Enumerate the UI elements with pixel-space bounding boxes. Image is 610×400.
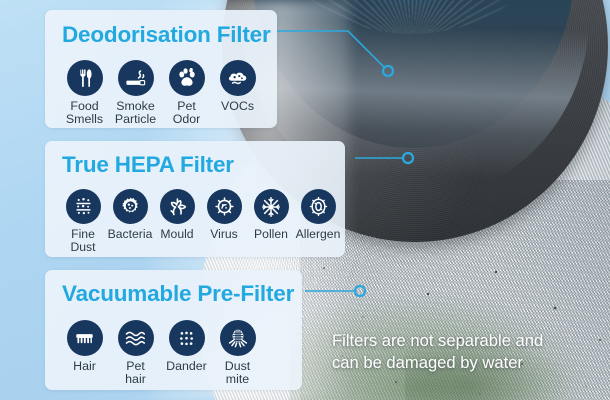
dander-dots-icon bbox=[169, 320, 205, 356]
item-label: Food Smells bbox=[66, 100, 103, 127]
item-bacteria[interactable]: Bacteria bbox=[107, 189, 153, 241]
panel-deodorisation-filter: Deodorisation Filter Food Smells bbox=[45, 10, 277, 128]
panel-title-deodorisation: Deodorisation Filter bbox=[62, 24, 271, 47]
callout-marker-deodorisation[interactable] bbox=[383, 66, 393, 76]
item-label: Fine Dust bbox=[70, 228, 95, 254]
wavy-hair-icon bbox=[118, 320, 154, 356]
item-vocs[interactable]: VOCs bbox=[214, 60, 261, 113]
item-pollen[interactable]: Pollen bbox=[248, 189, 294, 241]
mould-icon bbox=[160, 189, 195, 224]
item-label: Pet hair bbox=[125, 360, 146, 387]
pollen-icon bbox=[254, 189, 289, 224]
item-pet-odor[interactable]: Pet Odor bbox=[163, 60, 210, 127]
item-virus[interactable]: Virus bbox=[201, 189, 247, 241]
item-label: Dander bbox=[166, 360, 207, 373]
item-label: Hair bbox=[73, 360, 96, 373]
dust-mite-icon bbox=[220, 320, 256, 356]
caption-line-2: can be damaged by water bbox=[332, 352, 600, 374]
gas-cloud-icon bbox=[220, 60, 256, 96]
item-allergen[interactable]: Allergen bbox=[295, 189, 341, 241]
icon-row-pre-filter: Hair Pet hair bbox=[61, 320, 261, 387]
item-label: Dust mite bbox=[225, 360, 250, 387]
item-label: VOCs bbox=[221, 100, 254, 113]
item-hair[interactable]: Hair bbox=[61, 320, 108, 373]
item-dust-mite[interactable]: Dust mite bbox=[214, 320, 261, 387]
item-label: Pet Odor bbox=[173, 100, 201, 127]
icon-row-true-hepa: Fine Dust Bacteria bbox=[60, 189, 341, 254]
item-label: Pollen bbox=[254, 228, 288, 241]
cutlery-icon bbox=[67, 60, 103, 96]
caption-line-1: Filters are not separable and bbox=[332, 330, 600, 352]
item-label: Allergen bbox=[296, 228, 341, 241]
comb-icon bbox=[67, 320, 103, 356]
item-label: Mould bbox=[160, 228, 193, 241]
panel-vacuumable-pre-filter: Vacuumable Pre-Filter Hair bbox=[45, 270, 302, 390]
virus-icon bbox=[207, 189, 242, 224]
item-fine-dust[interactable]: Fine Dust bbox=[60, 189, 106, 254]
icon-row-deodorisation: Food Smells Smoke Particle bbox=[61, 60, 261, 127]
item-label: Virus bbox=[210, 228, 238, 241]
item-pet-hair[interactable]: Pet hair bbox=[112, 320, 159, 387]
infographic-stage: Deodorisation Filter Food Smells bbox=[0, 0, 610, 400]
cigarette-icon bbox=[118, 60, 154, 96]
callout-line-deodorisation bbox=[277, 31, 385, 68]
item-dander[interactable]: Dander bbox=[163, 320, 210, 373]
bacteria-icon bbox=[113, 189, 148, 224]
allergen-cell-icon bbox=[301, 189, 336, 224]
panel-true-hepa-filter: True HEPA Filter Fine Dust bbox=[45, 141, 345, 257]
panel-title-true-hepa: True HEPA Filter bbox=[62, 154, 234, 177]
panel-title-vacuumable-pre-filter: Vacuumable Pre-Filter bbox=[62, 283, 294, 306]
item-smoke-particle[interactable]: Smoke Particle bbox=[112, 60, 159, 127]
callout-marker-hepa[interactable] bbox=[403, 153, 413, 163]
item-label: Smoke Particle bbox=[115, 100, 156, 127]
fine-dust-icon bbox=[66, 189, 101, 224]
paw-print-icon bbox=[169, 60, 205, 96]
callout-marker-pre-filter[interactable] bbox=[355, 286, 365, 296]
item-food-smells[interactable]: Food Smells bbox=[61, 60, 108, 127]
item-label: Bacteria bbox=[108, 228, 153, 241]
warning-caption: Filters are not separable and can be dam… bbox=[332, 330, 600, 374]
item-mould[interactable]: Mould bbox=[154, 189, 200, 241]
